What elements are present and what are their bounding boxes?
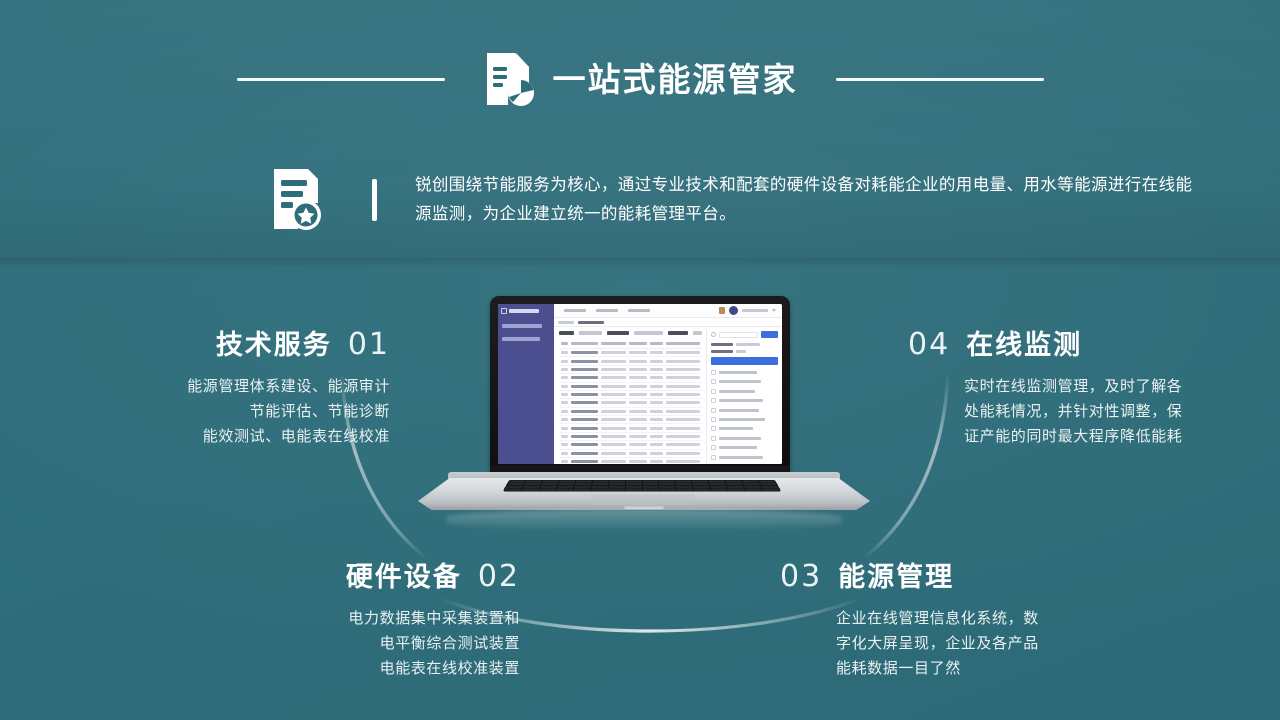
dashboard-screen[interactable]: [498, 304, 782, 464]
keyboard-key: [710, 483, 726, 485]
filter-select-label: [711, 350, 733, 353]
checkbox-label: [719, 456, 763, 459]
table-cell: [571, 368, 599, 371]
table-cell: [561, 410, 568, 413]
keyboard-key: [608, 486, 624, 488]
app-logo[interactable]: [498, 304, 554, 318]
checkbox-list: [711, 370, 778, 464]
keyboard-key: [556, 489, 573, 491]
feature-line: 电能表在线校准装置: [150, 656, 520, 681]
intro-accent-bar: [372, 179, 377, 221]
app-topbar: [498, 304, 782, 318]
keyboard-key: [558, 483, 574, 485]
breadcrumb-parent[interactable]: [558, 321, 574, 324]
checkbox-label: [719, 437, 761, 440]
table-cell: [601, 418, 625, 421]
table-cell: [571, 460, 599, 463]
laptop-trackpad: [591, 494, 695, 505]
table-row[interactable]: [559, 416, 702, 424]
table-cell: [666, 427, 700, 430]
table-cell: [601, 435, 625, 438]
table-cell: [571, 376, 599, 379]
keyboard-key: [592, 481, 608, 483]
keyboard-key: [676, 483, 692, 485]
checkbox-label: [719, 380, 761, 383]
table-cell: [629, 452, 647, 455]
checkbox[interactable]: [711, 408, 716, 413]
keyboard-key: [744, 486, 761, 488]
keyboard-key: [559, 481, 575, 483]
keyboard-key: [727, 486, 744, 488]
feature-block-01: 技术服务 01 能源管理体系建设、能源审计 节能评估、节能诊断 能效测试、电能表…: [20, 328, 390, 449]
table-cell: [571, 410, 599, 413]
app-body: [498, 318, 782, 464]
keyboard-key: [659, 486, 675, 488]
table-cell: [601, 460, 625, 463]
intro-text: 锐创围绕节能服务为核心，通过专业技术和配套的硬件设备对耗能企业的用电量、用水等能…: [415, 171, 1205, 229]
table-cell: [650, 401, 663, 404]
content-wrap: [554, 327, 782, 464]
table-cell: [650, 368, 663, 371]
table-cell: [629, 385, 647, 388]
checkbox[interactable]: [711, 417, 716, 422]
topnav-item[interactable]: [628, 309, 650, 312]
keyboard-key: [542, 481, 558, 483]
filter-label: [607, 331, 628, 335]
checkbox[interactable]: [711, 455, 716, 460]
filter-select-value[interactable]: [736, 350, 746, 353]
table-cell: [629, 401, 647, 404]
checkbox-list-item[interactable]: [711, 408, 778, 413]
table-cell: [561, 368, 568, 371]
table-cell: [561, 427, 568, 430]
feature-heading-04: 04 在线监测: [908, 328, 1278, 361]
keyboard-key: [575, 483, 591, 485]
feature-line: 证产能的同时最大程序降低能耗: [964, 424, 1278, 449]
keyboard-key: [693, 483, 709, 485]
chevron-down-icon[interactable]: [772, 309, 776, 312]
table-row[interactable]: [559, 383, 702, 391]
table-cell: [666, 443, 700, 446]
feature-heading-01: 技术服务 01: [20, 328, 390, 361]
checkbox[interactable]: [711, 370, 716, 375]
feature-line: 处能耗情况，并针对性调整，保: [964, 399, 1278, 424]
avatar[interactable]: [729, 306, 738, 315]
table-cell: [666, 385, 700, 388]
feature-number-01: 01: [348, 328, 390, 361]
checkbox-list-item[interactable]: [711, 398, 778, 403]
checkbox-list-item[interactable]: [711, 379, 778, 384]
feature-line: 能源管理体系建设、能源审计: [20, 374, 390, 399]
keyboard-key: [608, 489, 624, 491]
laptop-keyboard: [503, 480, 782, 492]
table-cell: [601, 427, 625, 430]
table-row[interactable]: [559, 408, 702, 416]
keyboard-key: [643, 486, 659, 488]
table-cell: [601, 360, 625, 363]
search-input[interactable]: [719, 332, 758, 338]
feature-body-03: 企业在线管理信息化系统，数 字化大屏呈现，企业及各产品 能耗数据一目了然: [780, 606, 1150, 681]
table-cell: [571, 393, 599, 396]
account-name: [742, 309, 768, 312]
column-header: [601, 342, 625, 345]
table-row[interactable]: [559, 458, 702, 464]
table-cell: [629, 435, 647, 438]
keyboard-key: [525, 481, 541, 483]
table-cell: [650, 385, 663, 388]
search-button[interactable]: [761, 331, 778, 338]
checkbox-label: [719, 446, 757, 449]
breadcrumb-current: [578, 321, 604, 324]
table-cell: [666, 418, 700, 421]
table-cell: [666, 368, 700, 371]
bell-icon[interactable]: [719, 307, 725, 314]
table-row[interactable]: [559, 391, 702, 399]
table-cell: [666, 410, 700, 413]
table-body: [559, 349, 702, 464]
table-cell: [601, 368, 625, 371]
table-cell: [561, 401, 568, 404]
filter-select-label: [711, 343, 733, 346]
table-cell: [666, 460, 700, 463]
keyboard-key: [504, 489, 521, 491]
header-band-edge: [0, 258, 1280, 268]
table-cell: [666, 435, 700, 438]
table-cell: [650, 460, 663, 463]
table-cell: [561, 376, 568, 379]
table-cell: [561, 460, 568, 463]
table-cell: [629, 393, 647, 396]
laptop-lid: [490, 296, 790, 478]
keyboard-key: [726, 481, 742, 483]
filter-label: [559, 331, 574, 335]
table-row[interactable]: [559, 399, 702, 407]
table-row[interactable]: [559, 349, 702, 357]
keyboard-key: [726, 483, 743, 485]
table-cell: [650, 452, 663, 455]
keyboard-key: [643, 489, 659, 491]
table-cell: [571, 385, 599, 388]
keyboard-key: [659, 481, 675, 483]
feature-line: 电平衡综合测试装置: [150, 631, 520, 656]
checkbox-label: [719, 399, 763, 402]
keyboard-key: [660, 489, 676, 491]
intro-block: 锐创围绕节能服务为核心，通过专业技术和配套的硬件设备对耗能企业的用电量、用水等能…: [268, 160, 1218, 240]
table-cell: [629, 360, 647, 363]
document-star-icon: [268, 166, 330, 234]
keyboard-key: [576, 481, 592, 483]
checkbox[interactable]: [711, 436, 716, 441]
feature-title-01: 技术服务: [216, 331, 332, 361]
side-filter-panel: [706, 327, 782, 464]
feature-line: 能效测试、电能表在线校准: [20, 424, 390, 449]
table-cell: [629, 460, 647, 463]
laptop-reflection: [446, 509, 842, 531]
column-header: [571, 342, 599, 345]
keyboard-key: [626, 481, 642, 483]
table-cell: [601, 443, 625, 446]
filter-select-row: [711, 350, 778, 353]
keyboard-key: [676, 486, 692, 488]
table-cell: [629, 427, 647, 430]
table-cell: [561, 351, 568, 354]
table-cell: [561, 452, 568, 455]
feature-line: 企业在线管理信息化系统，数: [836, 606, 1150, 631]
table-cell: [601, 393, 625, 396]
table-cell: [601, 351, 625, 354]
column-header: [650, 342, 663, 345]
table-cell: [650, 410, 663, 413]
table-cell: [601, 385, 625, 388]
laptop-mockup: [418, 296, 870, 536]
table-cell: [571, 360, 599, 363]
checkbox-label: [719, 409, 759, 412]
table-cell: [666, 393, 700, 396]
table-cell: [629, 443, 647, 446]
keyboard-key: [692, 481, 708, 483]
keyboard-key: [557, 486, 574, 488]
checkbox[interactable]: [711, 398, 716, 403]
logo-text: [509, 309, 539, 313]
topbar-account-area: [719, 306, 778, 315]
keyboard-key: [759, 481, 776, 483]
table-cell: [666, 376, 700, 379]
table-cell: [650, 435, 663, 438]
table-cell: [666, 452, 700, 455]
table-header-row: [559, 339, 702, 349]
feature-line: 字化大屏呈现，企业及各产品: [836, 631, 1150, 656]
table-cell: [629, 376, 647, 379]
checkbox-list-item[interactable]: [711, 417, 778, 422]
table-cell: [601, 452, 625, 455]
page-title-row: 一站式能源管家: [0, 48, 1280, 110]
feature-heading-03: 03 能源管理: [780, 560, 1150, 593]
app-main: [554, 318, 782, 464]
checkbox-label: [719, 427, 753, 430]
keyboard-key: [592, 483, 608, 485]
keyboard-key: [642, 483, 658, 485]
filter-value[interactable]: [634, 331, 663, 335]
search-icon: [711, 332, 716, 337]
sidebar-item[interactable]: [502, 337, 540, 341]
keyboard-key: [642, 481, 658, 483]
feature-block-03: 03 能源管理 企业在线管理信息化系统，数 字化大屏呈现，企业及各产品 能耗数据…: [780, 560, 1150, 681]
table-cell: [601, 401, 625, 404]
table-cell: [650, 351, 663, 354]
keyboard-key: [709, 481, 725, 483]
checkbox-list-item[interactable]: [711, 426, 778, 431]
checkbox-list-item[interactable]: [711, 445, 778, 450]
filter-label: [668, 331, 688, 335]
table-cell: [666, 401, 700, 404]
checkbox[interactable]: [711, 426, 716, 431]
keyboard-key: [761, 486, 778, 488]
table-cell: [666, 351, 700, 354]
topnav-item[interactable]: [596, 309, 618, 312]
title-divider-right: [836, 78, 1044, 81]
keyboard-key: [676, 481, 692, 483]
keyboard-key: [626, 483, 642, 485]
feature-heading-02: 硬件设备 02: [150, 560, 520, 593]
keyboard-key: [742, 481, 758, 483]
feature-number-03: 03: [780, 560, 822, 593]
keyboard-key: [728, 489, 745, 491]
checkbox-list-item[interactable]: [711, 455, 778, 460]
table-cell: [571, 435, 599, 438]
table-cell: [561, 418, 568, 421]
page-title: 一站式能源管家: [553, 63, 798, 96]
table-cell: [561, 435, 568, 438]
keyboard-key: [524, 483, 541, 485]
apply-filter-button[interactable]: [711, 357, 778, 365]
feature-line: 实时在线监测管理，及时了解各: [964, 374, 1278, 399]
filter-select-value[interactable]: [736, 343, 760, 346]
checkbox-list-item[interactable]: [711, 436, 778, 441]
column-header: [666, 342, 700, 345]
keyboard-key: [591, 489, 608, 491]
table-cell: [650, 418, 663, 421]
keyboard-key: [591, 486, 607, 488]
feature-body-04: 实时在线监测管理，及时了解各 处能耗情况，并针对性调整，保 证产能的同时最大程序…: [908, 374, 1278, 449]
table-row[interactable]: [559, 357, 702, 365]
table-cell: [561, 393, 568, 396]
table-cell: [650, 360, 663, 363]
table-row[interactable]: [559, 450, 702, 458]
keyboard-key: [540, 486, 557, 488]
table-row[interactable]: [559, 366, 702, 374]
keyboard-key: [609, 483, 625, 485]
keyboard-key: [507, 483, 524, 485]
table-cell: [571, 401, 599, 404]
feature-title-02: 硬件设备: [346, 563, 462, 593]
feature-title-04: 在线监测: [966, 331, 1082, 361]
table-cell: [571, 351, 599, 354]
keyboard-key: [523, 486, 540, 488]
feature-line: 能耗数据一目了然: [836, 656, 1150, 681]
feature-body-02: 电力数据集中采集装置和 电平衡综合测试装置 电能表在线校准装置: [150, 606, 520, 681]
column-header: [561, 342, 568, 345]
table-cell: [666, 360, 700, 363]
table-cell: [561, 360, 568, 363]
breadcrumb: [554, 318, 782, 327]
feature-number-02: 02: [478, 560, 520, 593]
data-table: [559, 339, 702, 464]
table-cell: [629, 351, 647, 354]
keyboard-key: [509, 481, 526, 483]
search-row: [711, 331, 778, 338]
table-cell: [629, 418, 647, 421]
keyboard-key: [693, 486, 709, 488]
topnav-item[interactable]: [564, 309, 586, 312]
filter-row: [559, 331, 702, 335]
keyboard-key: [573, 489, 590, 491]
checkbox[interactable]: [711, 389, 716, 394]
table-cell: [650, 376, 663, 379]
table-cell: [571, 452, 599, 455]
table-cell: [629, 410, 647, 413]
table-cell: [650, 427, 663, 430]
keyboard-key: [745, 489, 762, 491]
table-cell: [601, 376, 625, 379]
table-row[interactable]: [559, 441, 702, 449]
filter-value[interactable]: [579, 331, 602, 335]
checkbox-list-item[interactable]: [711, 370, 778, 375]
table-cell: [601, 410, 625, 413]
keyboard-key: [694, 489, 711, 491]
laptop-base: [418, 472, 870, 518]
feature-body-01: 能源管理体系建设、能源审计 节能评估、节能诊断 能效测试、电能表在线校准: [20, 374, 390, 449]
table-row[interactable]: [559, 424, 702, 432]
feature-block-02: 硬件设备 02 电力数据集中采集装置和 电平衡综合测试装置 电能表在线校准装置: [150, 560, 520, 681]
table-cell: [571, 427, 599, 430]
table-panel: [554, 327, 706, 464]
feature-line: 节能评估、节能诊断: [20, 399, 390, 424]
keyboard-key: [625, 486, 641, 488]
feature-number-04: 04: [908, 328, 950, 361]
table-cell: [571, 443, 599, 446]
keyboard-key: [541, 483, 558, 485]
filter-select-row: [711, 343, 778, 346]
keyboard-key: [677, 489, 694, 491]
keyboard-key: [760, 483, 777, 485]
logo-mark-icon: [501, 308, 507, 314]
feature-line: 电力数据集中采集装置和: [150, 606, 520, 631]
checkbox-label: [719, 371, 757, 374]
app-sidebar: [498, 318, 554, 464]
keyboard-key: [506, 486, 523, 488]
checkbox[interactable]: [711, 445, 716, 450]
title-divider-left: [237, 78, 445, 81]
slide-root: 一站式能源管家 锐创围绕节能服务为核心，通过专业技术和配套的硬件设备对耗能企业的…: [0, 0, 1280, 720]
table-row[interactable]: [559, 433, 702, 441]
checkbox-list-item[interactable]: [711, 389, 778, 394]
keyboard-key: [763, 489, 780, 491]
filter-value[interactable]: [693, 331, 702, 335]
keyboard-key: [574, 486, 590, 488]
keyboard-key: [710, 486, 727, 488]
keyboard-key: [522, 489, 539, 491]
column-header: [629, 342, 647, 345]
keyboard-key: [609, 481, 625, 483]
table-cell: [629, 368, 647, 371]
keyboard-key: [539, 489, 556, 491]
table-cell: [650, 393, 663, 396]
feature-title-03: 能源管理: [838, 563, 954, 593]
table-cell: [571, 418, 599, 421]
checkbox-label: [719, 390, 755, 393]
table-cell: [561, 443, 568, 446]
keyboard-key: [743, 483, 760, 485]
keyboard-key: [659, 483, 675, 485]
checkbox[interactable]: [711, 379, 716, 384]
table-cell: [561, 385, 568, 388]
checkbox-label: [719, 418, 765, 421]
keyboard-key: [711, 489, 728, 491]
document-chart-icon: [483, 50, 535, 108]
table-cell: [650, 443, 663, 446]
table-row[interactable]: [559, 374, 702, 382]
sidebar-item[interactable]: [502, 324, 542, 328]
feature-block-04: 04 在线监测 实时在线监测管理，及时了解各 处能耗情况，并针对性调整，保 证产…: [908, 328, 1278, 449]
keyboard-key: [625, 489, 641, 491]
